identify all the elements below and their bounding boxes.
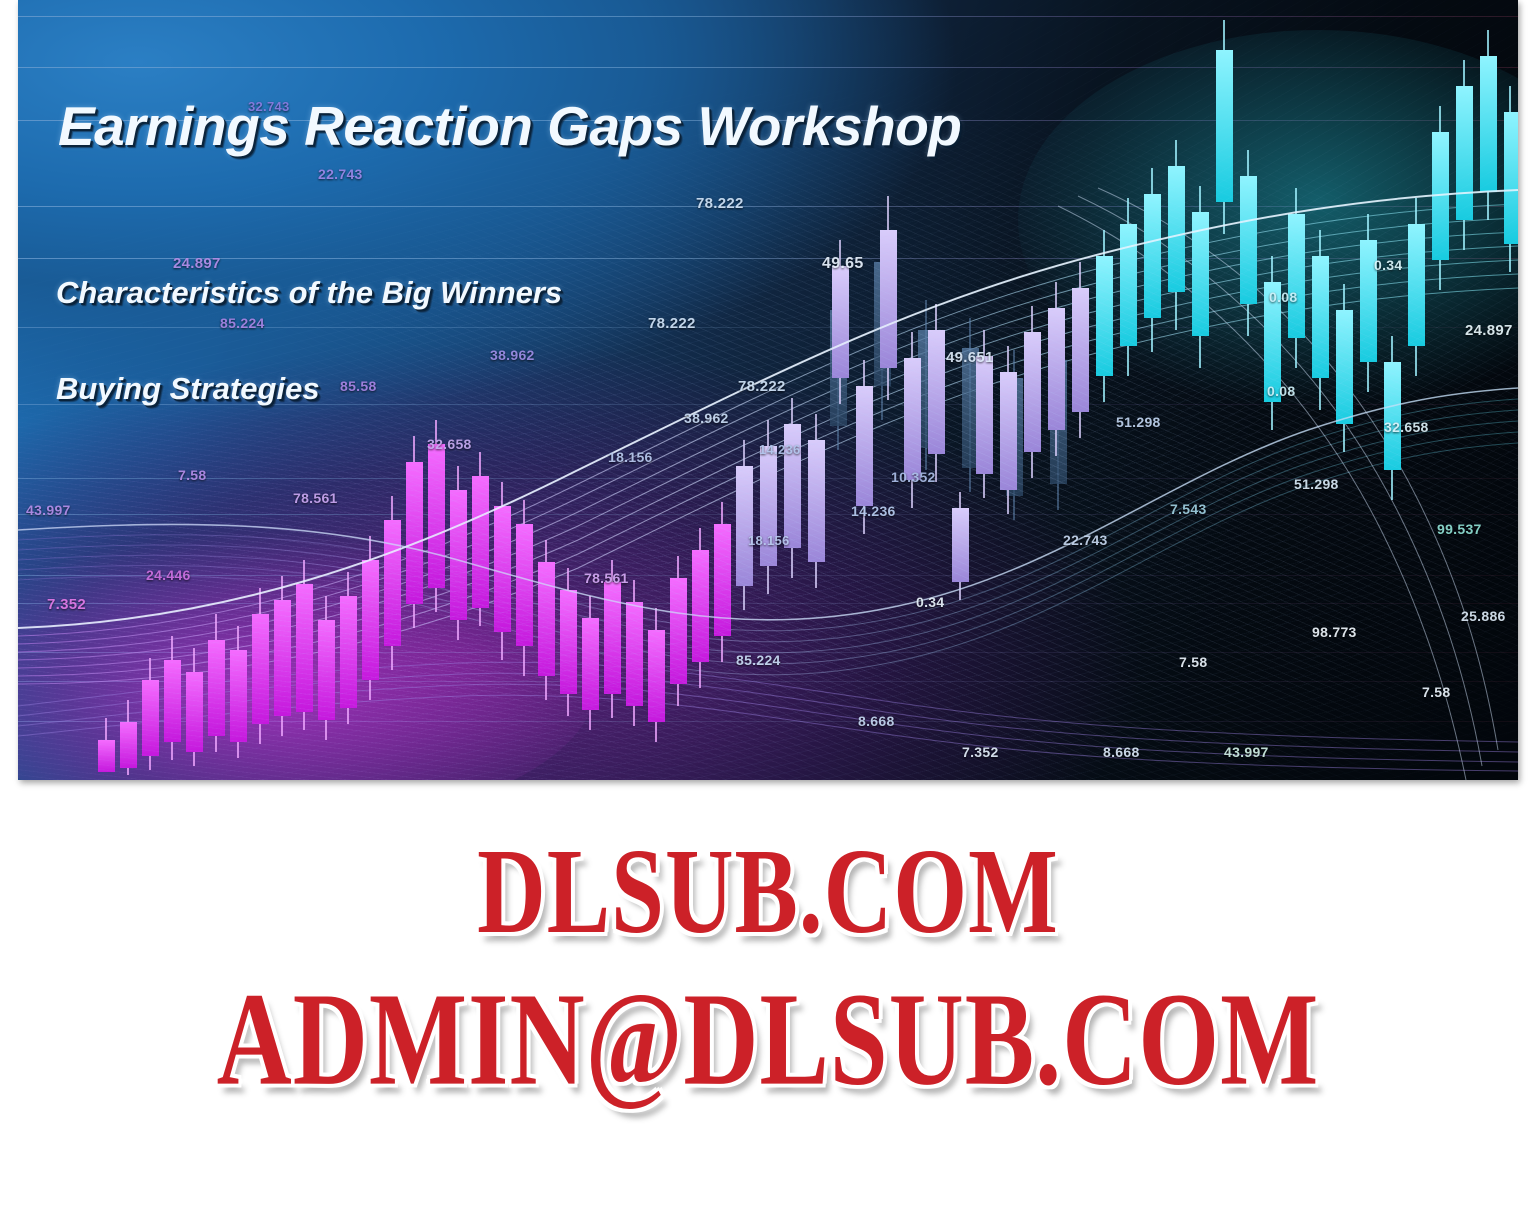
- page-title: Earnings Reaction Gaps Workshop: [58, 94, 961, 158]
- subtitle-buying-strategies: Buying Strategies: [56, 371, 320, 407]
- watermark-email: ADMIN@DLSUB.COM: [0, 963, 1536, 1115]
- subtitle-characteristics: Characteristics of the Big Winners: [56, 275, 562, 311]
- watermark-site: DLSUB.COM: [0, 821, 1536, 962]
- banner-image: 32.74322.74378.22249.6524.89778.22285.22…: [18, 0, 1518, 780]
